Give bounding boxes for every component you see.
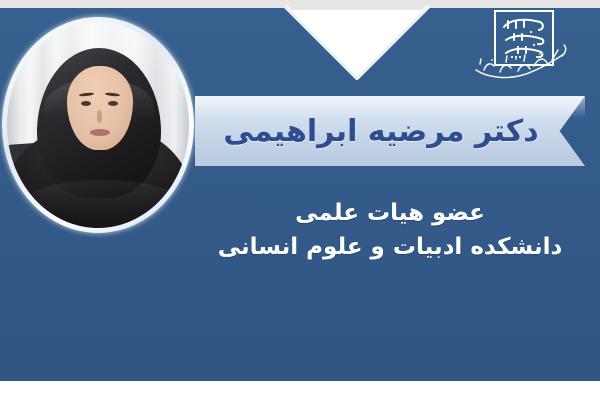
university-logo	[470, 4, 596, 84]
eye-left	[81, 101, 91, 106]
nose	[97, 110, 102, 123]
subtitle-faculty: دانشکده ادبیات و علوم انسانی	[190, 230, 590, 264]
avatar	[2, 17, 194, 233]
person-name: دکتر مرضیه ابراهیمی	[223, 114, 538, 149]
eyebrow-right	[105, 92, 120, 97]
eyebrow-left	[79, 92, 94, 97]
portrait-image	[7, 22, 189, 228]
eye-right	[108, 101, 118, 106]
name-ribbon: دکتر مرضیه ابراهیمی	[195, 96, 585, 166]
subtitle-role: عضو هیات علمی	[190, 196, 590, 230]
subtitle-block: عضو هیات علمی دانشکده ادبیات و علوم انسا…	[190, 196, 590, 264]
shoulder-highlight	[27, 180, 177, 220]
bottom-white-strip	[0, 381, 600, 400]
profile-banner: دکتر مرضیه ابراهیمی عضو هیات علمی دانشکد…	[0, 0, 600, 400]
logo-script-icon	[472, 40, 570, 84]
mouth	[90, 129, 110, 136]
avatar-photo	[7, 22, 189, 228]
